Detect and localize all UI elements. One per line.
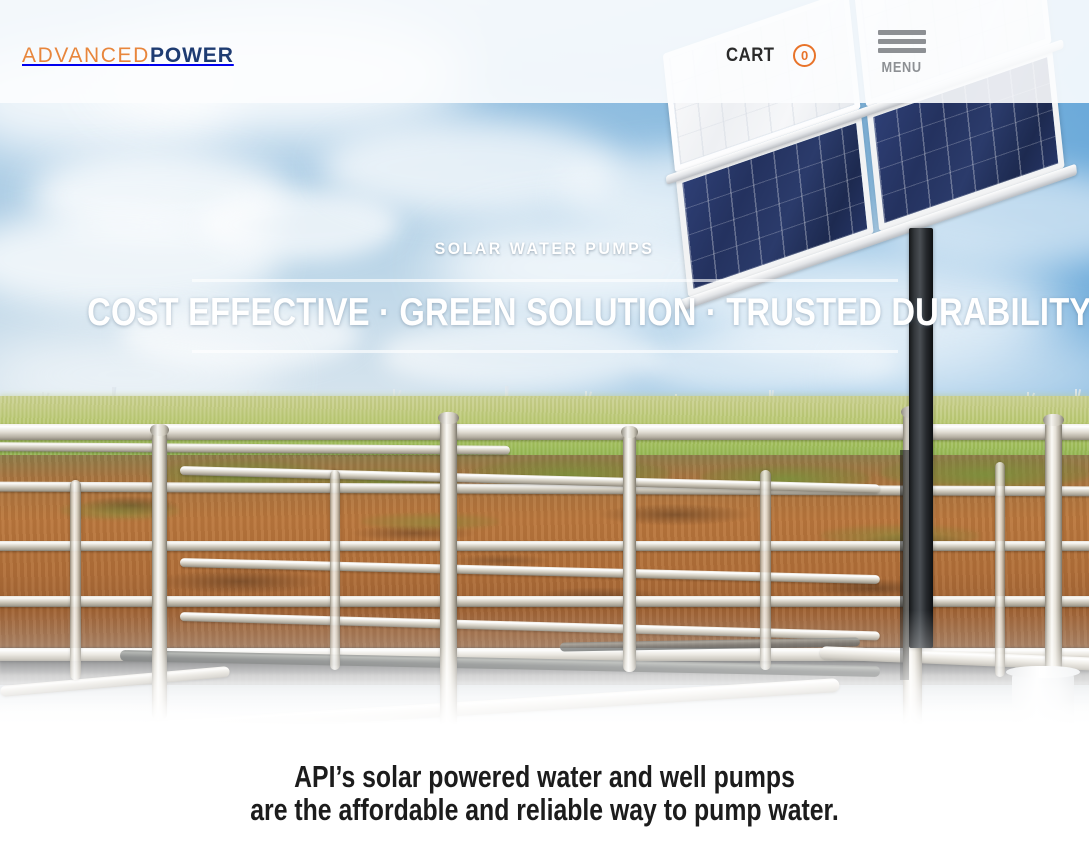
site-logo[interactable]: ADVANCEDPOWER (22, 45, 234, 66)
hero-copy: SOLAR WATER PUMPS COST EFFECTIVE · GREEN… (0, 240, 1089, 353)
intro-line-2: are the affordable and reliable way to p… (109, 793, 980, 826)
page-root: ADVANCEDPOWER CART 0 MENU SOLAR WATER PU… (0, 0, 1089, 845)
menu-button[interactable]: MENU (876, 30, 928, 77)
hero-eyebrow: SOLAR WATER PUMPS (33, 240, 1057, 257)
intro-line-1: API’s solar powered water and well pumps (109, 760, 980, 793)
menu-label: MENU (882, 59, 922, 76)
logo-text-advanced: ADVANCED (22, 44, 150, 67)
intro-copy: API’s solar powered water and well pumps… (0, 760, 1089, 826)
hero-image (0, 0, 1089, 740)
hamburger-icon (878, 30, 926, 53)
hero-rule-top (192, 279, 898, 282)
hero-headline: COST EFFECTIVE · GREEN SOLUTION · TRUSTE… (87, 292, 1002, 334)
site-header: ADVANCEDPOWER CART 0 MENU (0, 0, 1089, 103)
cart-label: CART (726, 46, 775, 65)
hero-corner-fade (0, 670, 1089, 740)
logo-text-power: POWER (150, 44, 234, 67)
cart-button[interactable]: CART 0 (726, 44, 816, 67)
hero-rule-bottom (192, 350, 898, 353)
cart-count-badge: 0 (793, 44, 816, 67)
